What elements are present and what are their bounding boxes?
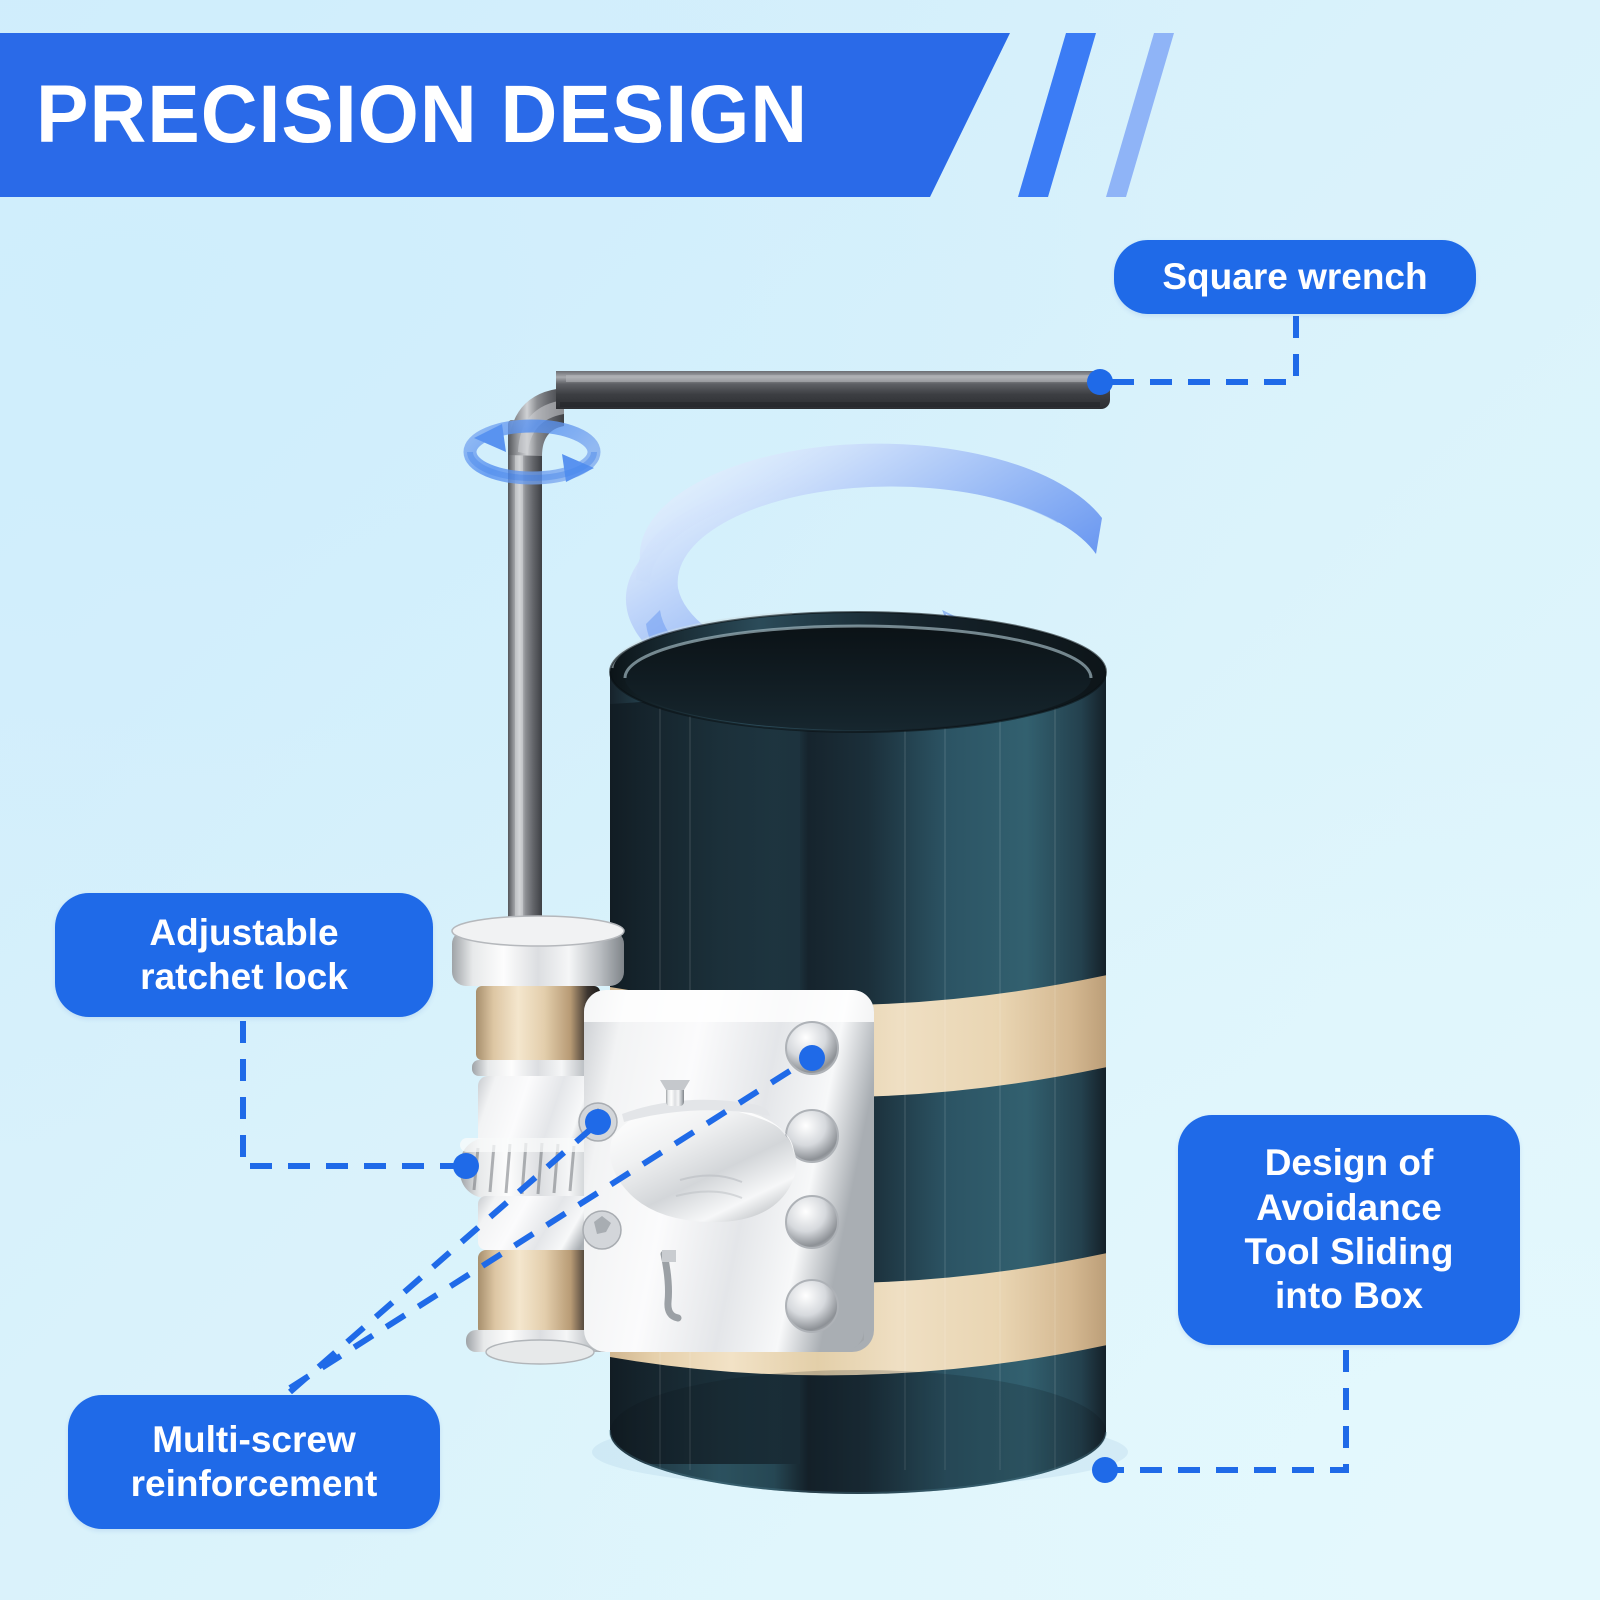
- callout-multi-screw-reinforcement[interactable]: Multi-screw reinforcement: [68, 1395, 440, 1529]
- callout-adjustable-ratchet-lock-label: Adjustable ratchet lock: [140, 911, 348, 1000]
- callout-square-wrench-label: Square wrench: [1162, 255, 1427, 299]
- callout-multi-screw-reinforcement-label: Multi-screw reinforcement: [131, 1418, 378, 1507]
- callout-design-of-avoidance[interactable]: Design of Avoidance Tool Sliding into Bo…: [1178, 1115, 1520, 1345]
- callout-square-wrench[interactable]: Square wrench: [1114, 240, 1476, 314]
- callout-design-of-avoidance-label: Design of Avoidance Tool Sliding into Bo…: [1245, 1141, 1454, 1319]
- callout-adjustable-ratchet-lock[interactable]: Adjustable ratchet lock: [55, 893, 433, 1017]
